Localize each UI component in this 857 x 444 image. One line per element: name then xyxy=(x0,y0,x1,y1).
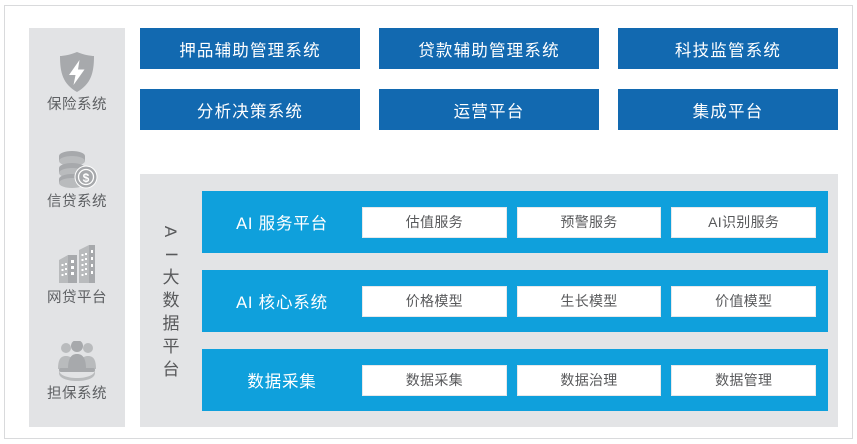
system-button-collateral-mgmt[interactable]: 押品辅助管理系统 xyxy=(140,28,360,69)
ai-cell-alert-service[interactable]: 预警服务 xyxy=(517,207,662,238)
vertical-label-char: 平 xyxy=(163,338,180,355)
sidebar-item-insurance[interactable]: 保险系统 xyxy=(29,51,125,113)
people-group-icon xyxy=(54,340,100,382)
sidebar-item-label: 网贷平台 xyxy=(47,291,107,306)
ai-bigdata-platform-panel: A I 大 数 据 平 台 AI 服务平台 估值服务 预警服务 AI识别服务 xyxy=(140,174,838,427)
sidebar: 保险系统 xyxy=(29,28,125,427)
ai-cell-price-model[interactable]: 价格模型 xyxy=(362,286,507,317)
system-button-analysis-decision[interactable]: 分析决策系统 xyxy=(140,89,360,130)
ai-cell-value-model[interactable]: 价值模型 xyxy=(671,286,816,317)
sidebar-item-label: 担保系统 xyxy=(47,387,107,402)
coins-dollar-icon: $ xyxy=(54,148,100,190)
ai-layer-cells: 估值服务 预警服务 AI识别服务 xyxy=(362,207,816,238)
vertical-label-char: 台 xyxy=(163,361,180,378)
ai-layer-title: 数据采集 xyxy=(202,368,362,392)
ai-layer-cells: 数据采集 数据治理 数据管理 xyxy=(362,365,816,396)
ai-cell-data-collection[interactable]: 数据采集 xyxy=(362,365,507,396)
sidebar-item-label: 保险系统 xyxy=(47,98,107,113)
ai-layer-data-collection: 数据采集 数据采集 数据治理 数据管理 xyxy=(202,349,828,411)
system-button-loan-mgmt[interactable]: 贷款辅助管理系统 xyxy=(379,28,599,69)
ai-cell-valuation-service[interactable]: 估值服务 xyxy=(362,207,507,238)
diagram-card: 保险系统 xyxy=(4,5,853,439)
ai-cell-growth-model[interactable]: 生长模型 xyxy=(517,286,662,317)
vertical-label-char: 大 xyxy=(163,269,180,286)
sidebar-item-credit[interactable]: $ 信贷系统 xyxy=(29,148,125,210)
ai-layer-cells: 价格模型 生长模型 价值模型 xyxy=(362,286,816,317)
vertical-label-char: I xyxy=(162,252,179,257)
top-row-1: 押品辅助管理系统 贷款辅助管理系统 科技监管系统 xyxy=(140,28,838,69)
ai-layer-core-system: AI 核心系统 价格模型 生长模型 价值模型 xyxy=(202,270,828,332)
buildings-icon xyxy=(54,244,100,286)
top-row-2: 分析决策系统 运营平台 集成平台 xyxy=(140,89,838,130)
vertical-label-char: A xyxy=(163,225,180,236)
architecture-diagram: 保险系统 xyxy=(0,0,857,444)
vertical-label-char: 数 xyxy=(163,292,180,309)
sidebar-item-guarantee[interactable]: 担保系统 xyxy=(29,340,125,402)
system-button-tech-supervision[interactable]: 科技监管系统 xyxy=(618,28,838,69)
system-button-operations-platform[interactable]: 运营平台 xyxy=(379,89,599,130)
ai-layer-title: AI 服务平台 xyxy=(202,210,362,234)
sidebar-item-online-loan[interactable]: 网贷平台 xyxy=(29,244,125,306)
ai-layer-title: AI 核心系统 xyxy=(202,289,362,313)
shield-bolt-icon xyxy=(54,51,100,93)
top-systems-area: 押品辅助管理系统 贷款辅助管理系统 科技监管系统 分析决策系统 运营平台 集成平… xyxy=(140,28,838,150)
svg-text:$: $ xyxy=(83,171,90,185)
ai-layer-service-platform: AI 服务平台 估值服务 预警服务 AI识别服务 xyxy=(202,191,828,253)
ai-cell-data-management[interactable]: 数据管理 xyxy=(671,365,816,396)
vertical-label-char: 据 xyxy=(163,315,180,332)
system-button-integration-platform[interactable]: 集成平台 xyxy=(618,89,838,130)
ai-cell-recognition-service[interactable]: AI识别服务 xyxy=(671,207,816,238)
ai-cell-data-governance[interactable]: 数据治理 xyxy=(517,365,662,396)
ai-layer-rows: AI 服务平台 估值服务 预警服务 AI识别服务 AI 核心系统 价格模型 生长… xyxy=(202,191,828,411)
ai-bigdata-platform-vertical-label: A I 大 数 据 平 台 xyxy=(140,191,202,411)
sidebar-item-label: 信贷系统 xyxy=(47,195,107,210)
